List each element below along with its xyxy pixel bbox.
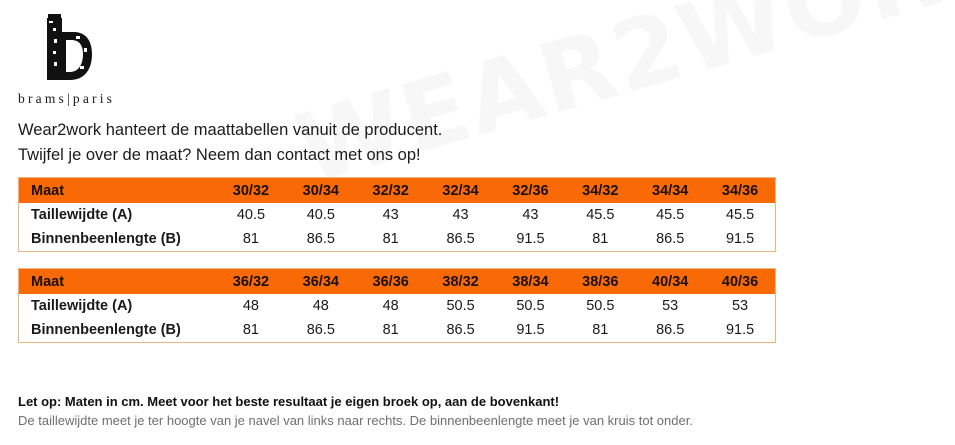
intro-line-2: Twijfel je over de maat? Neem dan contac… <box>18 143 442 168</box>
table-row: Taillewijdte (A) 48 48 48 50.5 50.5 50.5… <box>19 294 775 318</box>
table-cell: 81 <box>356 318 426 342</box>
table-cell: 48 <box>216 294 286 318</box>
footer-note: Let op: Maten in cm. Meet voor het beste… <box>18 392 938 430</box>
size-table-2-body: Taillewijdte (A) 48 48 48 50.5 50.5 50.5… <box>19 294 775 342</box>
table-cell: 81 <box>565 227 635 251</box>
brand-logo: brams|paris <box>18 12 198 107</box>
column-header-maat: Maat <box>19 178 216 203</box>
column-header-maat: Maat <box>19 269 216 294</box>
table-cell: 91.5 <box>705 227 775 251</box>
table-cell: 45.5 <box>635 203 705 227</box>
table-cell: 50.5 <box>496 294 566 318</box>
table-cell: 81 <box>216 318 286 342</box>
size-table-1: Maat 30/32 30/34 32/32 32/34 32/36 34/32… <box>18 177 776 252</box>
column-header-size: 38/36 <box>565 269 635 294</box>
column-header-size: 38/32 <box>426 269 496 294</box>
site-watermark: WEAR2WORK.NL <box>285 0 955 206</box>
table-cell: 81 <box>565 318 635 342</box>
footer-line-2: De taillewijdte meet je ter hoogte van j… <box>18 411 938 430</box>
column-header-size: 34/36 <box>705 178 775 203</box>
table-cell: 91.5 <box>705 318 775 342</box>
table-cell: 91.5 <box>496 318 566 342</box>
column-header-size: 40/36 <box>705 269 775 294</box>
size-table-2: Maat 36/32 36/34 36/36 38/32 38/34 38/36… <box>18 268 776 343</box>
table-cell: 40.5 <box>286 203 356 227</box>
table-cell: 86.5 <box>635 318 705 342</box>
size-table-2-head: Maat 36/32 36/34 36/36 38/32 38/34 38/36… <box>19 269 775 294</box>
column-header-size: 30/32 <box>216 178 286 203</box>
table-cell: 43 <box>426 203 496 227</box>
table-cell: 50.5 <box>565 294 635 318</box>
table-cell: 86.5 <box>426 318 496 342</box>
table-cell: 53 <box>635 294 705 318</box>
column-header-size: 32/36 <box>496 178 566 203</box>
table-cell: 48 <box>286 294 356 318</box>
table-cell: 81 <box>356 227 426 251</box>
table-cell: 86.5 <box>286 318 356 342</box>
brams-paris-b-logo-icon <box>36 12 198 89</box>
table-header-row: Maat 36/32 36/34 36/36 38/32 38/34 38/36… <box>19 269 775 294</box>
table-cell: 45.5 <box>705 203 775 227</box>
column-header-size: 38/34 <box>496 269 566 294</box>
column-header-size: 36/36 <box>356 269 426 294</box>
footer-line-1: Let op: Maten in cm. Meet voor het beste… <box>18 392 938 411</box>
size-table-2-grid: Maat 36/32 36/34 36/36 38/32 38/34 38/36… <box>19 269 775 342</box>
column-header-size: 34/34 <box>635 178 705 203</box>
size-table-1-grid: Maat 30/32 30/34 32/32 32/34 32/36 34/32… <box>19 178 775 251</box>
column-header-size: 32/32 <box>356 178 426 203</box>
row-label: Binnenbeenlengte (B) <box>19 227 216 251</box>
table-cell: 91.5 <box>496 227 566 251</box>
table-cell: 43 <box>356 203 426 227</box>
table-cell: 86.5 <box>635 227 705 251</box>
column-header-size: 36/32 <box>216 269 286 294</box>
column-header-size: 40/34 <box>635 269 705 294</box>
table-cell: 86.5 <box>286 227 356 251</box>
size-table-1-body: Taillewijdte (A) 40.5 40.5 43 43 43 45.5… <box>19 203 775 251</box>
size-table-1-head: Maat 30/32 30/34 32/32 32/34 32/36 34/32… <box>19 178 775 203</box>
table-row: Binnenbeenlengte (B) 81 86.5 81 86.5 91.… <box>19 318 775 342</box>
table-cell: 45.5 <box>565 203 635 227</box>
table-cell: 53 <box>705 294 775 318</box>
brand-wordmark: brams|paris <box>18 91 198 107</box>
intro-text: Wear2work hanteert de maattabellen vanui… <box>18 118 442 168</box>
column-header-size: 30/34 <box>286 178 356 203</box>
intro-line-1: Wear2work hanteert de maattabellen vanui… <box>18 118 442 143</box>
column-header-size: 34/32 <box>565 178 635 203</box>
table-cell: 43 <box>496 203 566 227</box>
table-cell: 81 <box>216 227 286 251</box>
row-label: Taillewijdte (A) <box>19 203 216 227</box>
table-cell: 40.5 <box>216 203 286 227</box>
table-row: Taillewijdte (A) 40.5 40.5 43 43 43 45.5… <box>19 203 775 227</box>
table-cell: 50.5 <box>426 294 496 318</box>
table-row: Binnenbeenlengte (B) 81 86.5 81 86.5 91.… <box>19 227 775 251</box>
table-cell: 48 <box>356 294 426 318</box>
row-label: Binnenbeenlengte (B) <box>19 318 216 342</box>
column-header-size: 32/34 <box>426 178 496 203</box>
table-header-row: Maat 30/32 30/34 32/32 32/34 32/36 34/32… <box>19 178 775 203</box>
row-label: Taillewijdte (A) <box>19 294 216 318</box>
table-cell: 86.5 <box>426 227 496 251</box>
column-header-size: 36/34 <box>286 269 356 294</box>
